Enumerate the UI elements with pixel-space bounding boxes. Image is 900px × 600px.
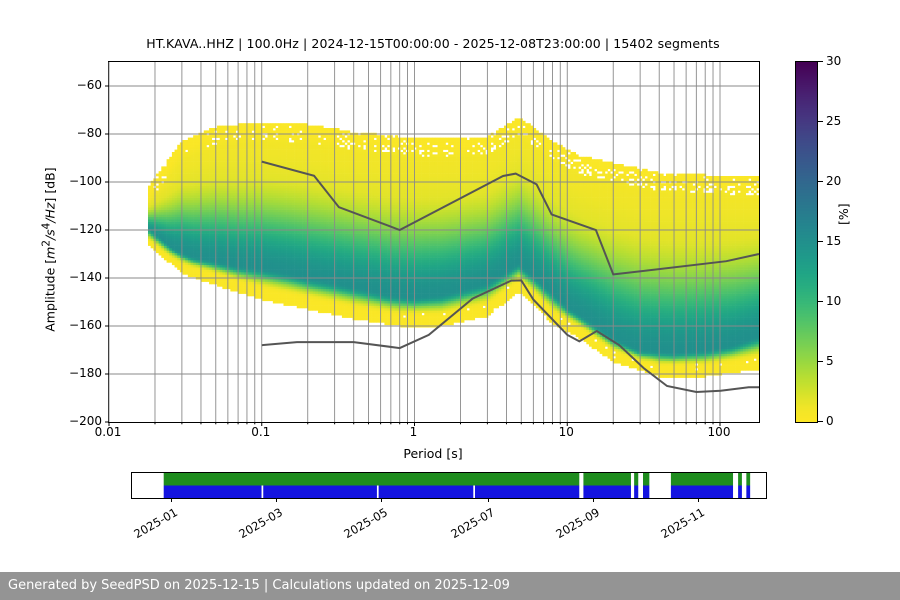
y-axis-label-wrap: Amplitude [m2/s4/Hz] [dB]: [22, 61, 42, 421]
colorbar: [795, 61, 818, 423]
timeline-tick-label: 2025-07: [440, 505, 497, 546]
timeline-tick-label: 2025-09: [545, 505, 602, 546]
x-tick-label: 10: [559, 425, 574, 439]
noise-model-nhnm: [262, 162, 759, 275]
colorbar-label: [%]: [836, 203, 851, 225]
colorbar-tick-label: 20: [826, 174, 841, 188]
colorbar-tick-mark: [818, 361, 823, 362]
timeline-tick-mark: [698, 498, 699, 502]
timeline-axis-ticks: 2025-012025-032025-052025-072025-092025-…: [131, 498, 765, 548]
colorbar-tick-mark: [818, 301, 823, 302]
data-coverage-timeline[interactable]: [131, 472, 767, 499]
x-tick-label: 100: [708, 425, 731, 439]
timeline-tick-mark: [488, 498, 489, 502]
colorbar-tick-mark: [818, 181, 823, 182]
timeline-tick-label: 2025-05: [332, 505, 389, 546]
x-axis-ticks: 0.010.1110100: [108, 425, 758, 447]
colorbar-tick-label: 30: [826, 54, 841, 68]
footer-text: Generated by SeedPSD on 2025-12-15 | Cal…: [8, 578, 510, 593]
ppsd-plot-area[interactable]: [108, 61, 760, 423]
colorbar-tick-label: 0: [826, 414, 834, 428]
timeline-coverage-bars: [132, 473, 766, 498]
colorbar-tick-mark: [818, 421, 823, 422]
x-tick-label: 1: [410, 425, 418, 439]
timeline-tick-mark: [593, 498, 594, 502]
noise-model-curves: [109, 62, 759, 422]
colorbar-tick-label: 15: [826, 234, 841, 248]
timeline-tick-mark: [171, 498, 172, 502]
colorbar-tick-label: 5: [826, 354, 834, 368]
timeline-tick-mark: [381, 498, 382, 502]
colorbar-tick-mark: [818, 241, 823, 242]
x-axis-label: Period [s]: [108, 446, 758, 461]
x-tick-label: 0.1: [251, 425, 270, 439]
ppsd-figure: HT.KAVA..HHZ | 100.0Hz | 2024-12-15T00:0…: [0, 0, 900, 600]
timeline-tick-label: 2025-03: [228, 505, 285, 546]
timeline-tick-mark: [276, 498, 277, 502]
page-title: HT.KAVA..HHZ | 100.0Hz | 2024-12-15T00:0…: [108, 36, 758, 51]
y-tick-label: −200: [42, 414, 102, 428]
y-axis-label: Amplitude [m2/s4/Hz] [dB]: [40, 130, 57, 370]
colorbar-tick-mark: [818, 61, 823, 62]
timeline-tick-label: 2025-01: [123, 505, 180, 546]
colorbar-gradient: [796, 62, 817, 422]
colorbar-tick-label: 25: [826, 114, 841, 128]
colorbar-tick-label: 10: [826, 294, 841, 308]
colorbar-ticks: 051015202530: [818, 61, 860, 421]
timeline-tick-label: 2025-11: [649, 505, 706, 546]
noise-model-nlnm: [262, 280, 759, 392]
colorbar-tick-mark: [818, 121, 823, 122]
x-tick-label: 0.01: [95, 425, 122, 439]
y-tick-label: −60: [42, 78, 102, 92]
